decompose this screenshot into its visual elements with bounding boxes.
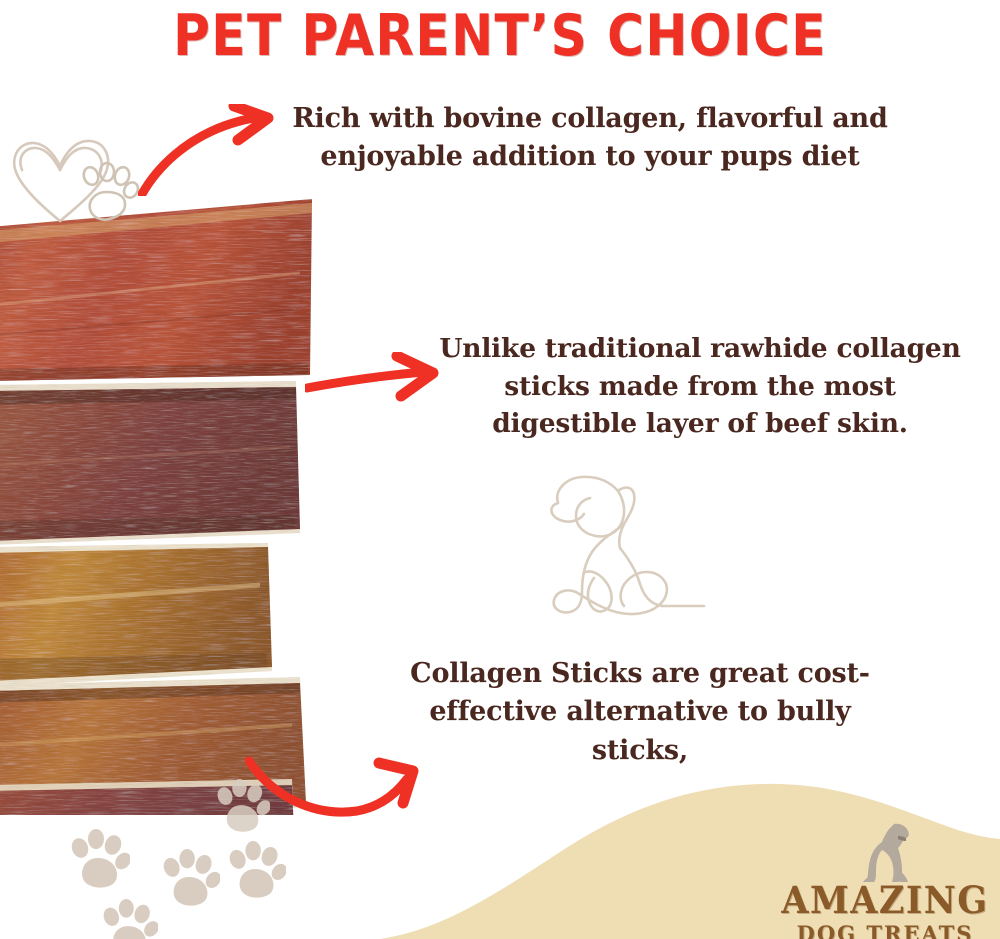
paw-print-icon (162, 848, 220, 908)
red-arrow-icon-2 (305, 352, 455, 418)
brand-name: AMAZING (770, 883, 1000, 920)
sitting-dog-silhouette-icon (854, 818, 916, 884)
bullet-2-line-2: sticks made from the most (420, 368, 980, 406)
bullet-1-line-2: enjoyable addition to your pups diet (250, 138, 930, 176)
bullet-3-line-2: effective alternative to bully (385, 693, 895, 731)
collagen-sticks-photo (0, 185, 330, 815)
bullet-text-3: Collagen Sticks are great cost- effectiv… (385, 655, 895, 770)
bullet-text-1: Rich with bovine collagen, flavorful and… (250, 100, 930, 177)
brand-tagline: DOG TREATS (770, 921, 1000, 939)
collagen-sticks-artwork (0, 185, 330, 815)
bullet-text-2: Unlike traditional rawhide collagen stic… (420, 330, 980, 443)
line-dog-drawing-icon (528, 458, 708, 643)
poster-canvas: PET PARENT’S CHOICE (0, 0, 1000, 939)
bullet-2-line-1: Unlike traditional rawhide collagen (420, 330, 980, 368)
bullet-3-line-1: Collagen Sticks are great cost- (385, 655, 895, 693)
bullet-3-line-3: sticks, (385, 732, 895, 770)
paw-print-icon (228, 840, 286, 900)
red-arrow-icon-1 (138, 104, 298, 196)
page-title: PET PARENT’S CHOICE (35, 2, 965, 69)
brand-logo: AMAZING DOG TREATS (770, 818, 1000, 939)
bullet-1-line-1: Rich with bovine collagen, flavorful and (250, 100, 930, 138)
bullet-2-line-3: digestible layer of beef skin. (420, 405, 980, 443)
red-arrow-icon-3 (245, 745, 440, 825)
paw-print-icon (102, 898, 158, 939)
paw-print-icon (70, 828, 130, 890)
